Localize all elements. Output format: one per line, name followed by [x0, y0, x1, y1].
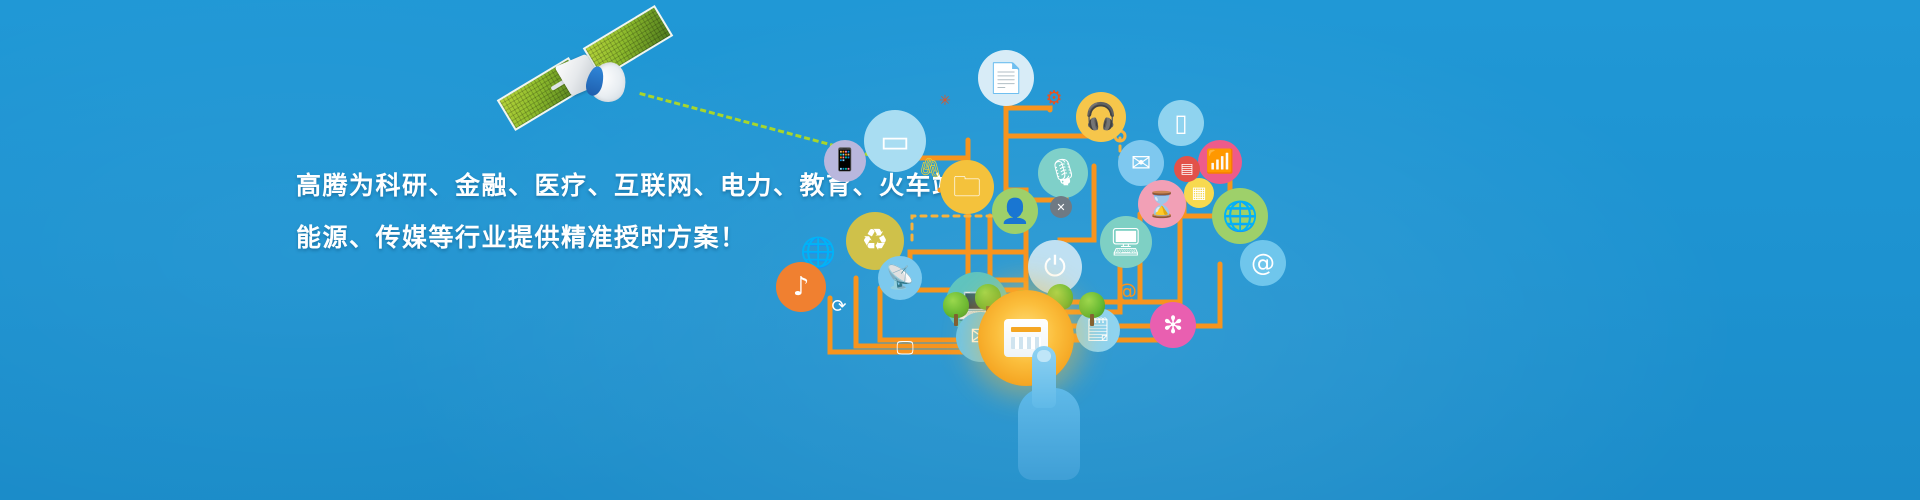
- document-icon-glyph: 📄: [988, 64, 1024, 93]
- iot-icon-tree: 📄✳⚙🎧▭📱🖇✉▯📶🗀👤🎙✕⌛▦♻🌐🌐♪⟳📡⏻@@💻✉🖥✻🗒🖵▤: [760, 40, 1320, 480]
- headphones-icon[interactable]: 🎧: [1076, 92, 1126, 142]
- presentation-icon-glyph: 🖵: [896, 340, 913, 358]
- pointing-hand-icon: [1012, 340, 1086, 480]
- recycle-icon-glyph: ♻: [862, 226, 889, 256]
- close-icon[interactable]: ✕: [1050, 196, 1072, 218]
- user-icon-glyph: 👤: [1000, 199, 1030, 223]
- envelope-icon[interactable]: ✉: [1118, 140, 1164, 186]
- tree-trunk: [1090, 314, 1094, 326]
- music-note-icon-glyph: ♪: [793, 274, 810, 300]
- close-icon-glyph: ✕: [1056, 202, 1065, 213]
- monitor-icon-glyph: 🖥: [1109, 229, 1143, 256]
- cellphone-icon-glyph: 📱: [831, 150, 858, 172]
- gear-icon[interactable]: ✳: [932, 88, 958, 114]
- gear-icon-glyph: ✳: [939, 94, 951, 108]
- refresh-icon[interactable]: ⟳: [822, 290, 856, 324]
- train-icon[interactable]: ▤: [1174, 156, 1200, 182]
- folder-icon-glyph: 🗀: [953, 173, 981, 201]
- presentation-icon[interactable]: 🖵: [888, 332, 922, 366]
- monitor-icon[interactable]: 🖥: [1100, 216, 1152, 268]
- hand-nail: [1037, 350, 1051, 362]
- train-icon-glyph: ▤: [1180, 162, 1193, 176]
- at-sign-icon-glyph: @: [1117, 281, 1137, 301]
- cellphone-icon[interactable]: 📱: [824, 140, 866, 182]
- hourglass-icon[interactable]: ⌛: [1138, 180, 1186, 228]
- settings-gear-icon-glyph: ⚙: [1045, 89, 1062, 108]
- smartphone-icon-glyph: ▯: [1174, 111, 1187, 135]
- wifi-signal-icon-glyph: 📶: [1206, 151, 1235, 174]
- microphone-icon-glyph: 🎙: [1046, 160, 1079, 186]
- settings-gear-icon[interactable]: ⚙: [1036, 80, 1072, 116]
- document-icon[interactable]: 📄: [978, 50, 1034, 106]
- calculator-icon[interactable]: ▦: [1184, 178, 1214, 208]
- envelope-icon-glyph: ✉: [1131, 151, 1151, 175]
- at-sign-circle-icon[interactable]: @: [1240, 240, 1286, 286]
- note-icon-glyph: 🗒: [1083, 319, 1112, 342]
- broadcast-tower-icon[interactable]: 📡: [878, 256, 922, 300]
- headphones-icon-glyph: 🎧: [1085, 104, 1117, 130]
- music-note-icon[interactable]: ♪: [776, 262, 826, 312]
- broadcast-tower-icon-glyph: 📡: [886, 267, 915, 290]
- refresh-icon-glyph: ⟳: [831, 298, 846, 316]
- at-sign-icon[interactable]: @: [1108, 272, 1146, 310]
- wifi-signal-icon[interactable]: 📶: [1198, 140, 1242, 184]
- folder-icon[interactable]: 🗀: [940, 160, 994, 214]
- calculator-icon-glyph: ▦: [1191, 185, 1206, 201]
- user-icon[interactable]: 👤: [992, 188, 1038, 234]
- at-sign-circle-icon-glyph: @: [1251, 251, 1275, 275]
- promo-banner: 高腾为科研、金融、医疗、互联网、电力、教育、火车站、 能源、传媒等行业提供精准授…: [0, 0, 1920, 500]
- power-icon-glyph: ⏻: [1044, 253, 1066, 281]
- microphone-icon[interactable]: 🎙: [1038, 148, 1088, 198]
- tablet-wifi-icon-glyph: ▭: [880, 125, 910, 157]
- globe-web-icon-glyph: 🌐: [1222, 202, 1258, 231]
- smartphone-icon[interactable]: ▯: [1158, 100, 1204, 146]
- hourglass-icon-glyph: ⌛: [1146, 192, 1177, 217]
- paperclip-icon-glyph: 🖇: [918, 159, 942, 178]
- globe-web-icon[interactable]: 🌐: [1212, 188, 1268, 244]
- flower-icon-glyph: ✻: [1163, 313, 1183, 337]
- flower-icon[interactable]: ✻: [1150, 302, 1196, 348]
- tree-trunk: [954, 314, 958, 326]
